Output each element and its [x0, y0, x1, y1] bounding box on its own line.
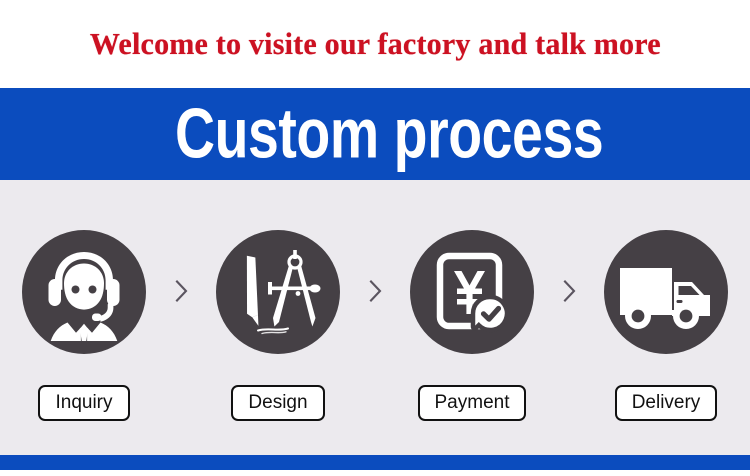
headline-band: Welcome to visite our factory and talk m…: [0, 0, 750, 88]
process-step-design[interactable]: Design: [195, 180, 361, 421]
headset-operator-icon: [22, 230, 146, 354]
pencil-compass-icon: [216, 230, 340, 354]
step-icon-circle: [216, 230, 340, 354]
process-steps-section: Inquiry: [0, 180, 750, 455]
step-icon-circle: [22, 230, 146, 354]
welcome-headline: Welcome to visite our factory and talk m…: [90, 26, 661, 62]
step-separator-1: [167, 180, 195, 302]
step-separator-3: [555, 180, 583, 302]
step-icon-circle: [604, 230, 728, 354]
process-steps-row: Inquiry: [0, 180, 750, 455]
yen-document-check-icon: [410, 230, 534, 354]
delivery-truck-icon: [604, 230, 728, 354]
banner-title: Custom process: [175, 99, 603, 170]
footer-white-strip: [0, 470, 750, 476]
step-label-inquiry: Inquiry: [38, 385, 129, 421]
step-icon-circle: [410, 230, 534, 354]
footer-blue-bar: [0, 455, 750, 470]
step-separator-2: [361, 180, 389, 302]
process-step-inquiry[interactable]: Inquiry: [1, 180, 167, 421]
chevron-right-icon: [563, 280, 576, 302]
process-step-payment[interactable]: Payment: [389, 180, 555, 421]
step-label-design: Design: [231, 385, 324, 421]
section-banner: Custom process: [0, 88, 750, 180]
process-step-delivery[interactable]: Delivery: [583, 180, 749, 421]
step-label-delivery: Delivery: [615, 385, 718, 421]
chevron-right-icon: [175, 280, 188, 302]
step-label-payment: Payment: [418, 385, 527, 421]
chevron-right-icon: [369, 280, 382, 302]
custom-process-banner: Welcome to visite our factory and talk m…: [0, 0, 750, 476]
